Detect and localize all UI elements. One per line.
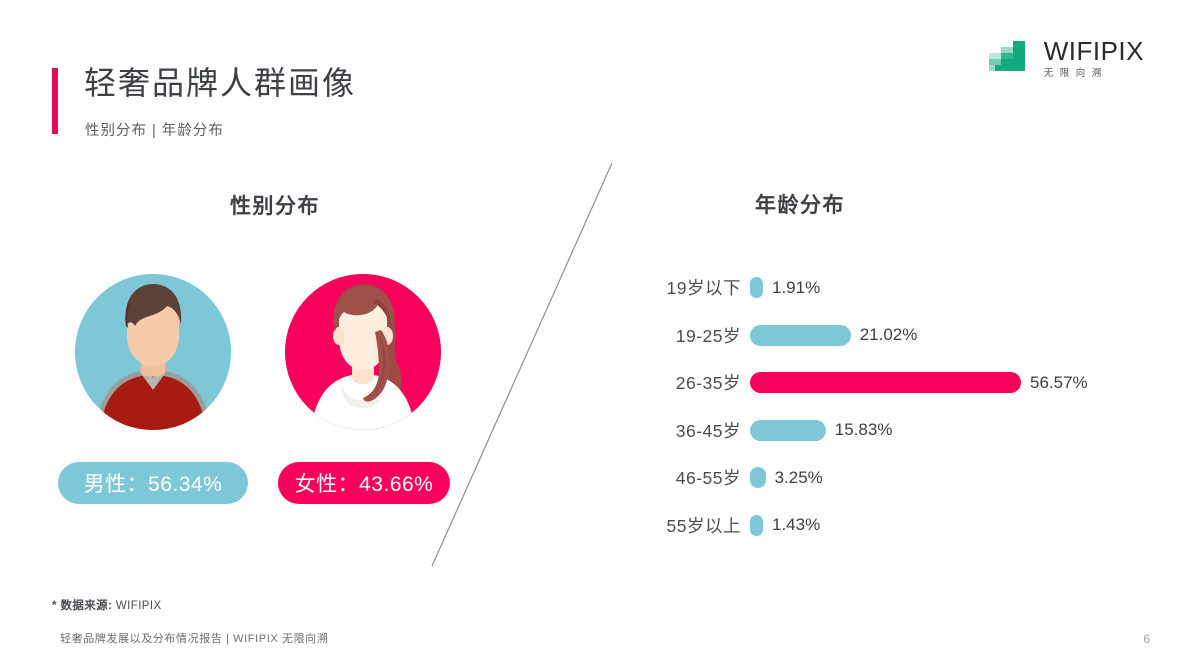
bar-value-label: 56.57% — [1030, 373, 1088, 393]
bar-track: 3.25% — [750, 467, 1090, 488]
brand-logo: WIFIPIX 无限向溯 — [987, 38, 1144, 79]
page-number: 6 — [1143, 632, 1150, 646]
bar-fill — [750, 420, 826, 441]
bar-fill — [750, 372, 1021, 393]
bar-row: 26-35岁 56.57% — [620, 359, 1090, 407]
logo-name: WIFIPIX — [1044, 38, 1144, 64]
bar-category-label: 36-45岁 — [620, 418, 750, 443]
gender-section-heading: 性别分布 — [230, 190, 320, 220]
page-subtitle: 性别分布 | 年龄分布 — [85, 119, 224, 140]
bar-value-label: 3.25% — [775, 468, 823, 488]
bar-track: 21.02% — [750, 325, 1090, 346]
age-section-heading: 年龄分布 — [755, 189, 845, 219]
bar-fill — [750, 467, 766, 488]
wifipix-mark-icon — [987, 39, 1035, 77]
male-avatar — [75, 274, 231, 430]
bar-fill — [750, 277, 763, 298]
bar-category-label: 46-55岁 — [620, 465, 750, 490]
male-percentage-badge: 男性：56.34% — [58, 462, 248, 504]
bar-row: 19岁以下 1.91% — [620, 264, 1090, 312]
bar-track: 15.83% — [750, 420, 1090, 441]
female-percentage-badge: 女性：43.66% — [278, 462, 450, 504]
logo-wordmark: WIFIPIX 无限向溯 — [1044, 38, 1144, 79]
bar-category-label: 26-35岁 — [620, 370, 750, 395]
slide-root: 轻奢品牌人群画像 性别分布 | 年龄分布 WIFIPIX 无限向溯 性别分布 — [0, 0, 1190, 670]
bar-row: 36-45岁 15.83% — [620, 407, 1090, 455]
page-title: 轻奢品牌人群画像 — [84, 62, 356, 105]
bar-row: 19-25岁 21.02% — [620, 312, 1090, 360]
bar-category-label: 19岁以下 — [620, 275, 750, 300]
logo-sub: 无限向溯 — [1044, 69, 1144, 79]
data-source-note: * 数据来源: WIFIPIX — [52, 597, 162, 613]
title-accent-bar — [52, 68, 58, 134]
footer-caption: 轻奢品牌发展以及分布情况报告 | WIFIPIX 无限向溯 — [60, 630, 328, 646]
bar-value-label: 1.91% — [772, 278, 820, 298]
bar-category-label: 19-25岁 — [620, 323, 750, 348]
bar-fill — [750, 515, 763, 536]
data-source-value: WIFIPIX — [116, 600, 162, 612]
data-source-prefix: * 数据来源: — [52, 600, 112, 612]
bar-track: 56.57% — [750, 372, 1090, 393]
bar-track: 1.91% — [750, 277, 1090, 298]
bar-value-label: 21.02% — [860, 325, 918, 345]
bar-track: 1.43% — [750, 515, 1090, 536]
bar-row: 46-55岁 3.25% — [620, 454, 1090, 502]
bar-row: 55岁以上 1.43% — [620, 502, 1090, 550]
bar-fill — [750, 325, 851, 346]
bar-value-label: 1.43% — [772, 515, 820, 535]
bar-category-label: 55岁以上 — [620, 513, 750, 538]
age-distribution-chart: 19岁以下 1.91% 19-25岁 21.02% 26-35岁 56.57% … — [620, 264, 1090, 549]
female-avatar — [285, 274, 441, 430]
bar-value-label: 15.83% — [835, 420, 893, 440]
